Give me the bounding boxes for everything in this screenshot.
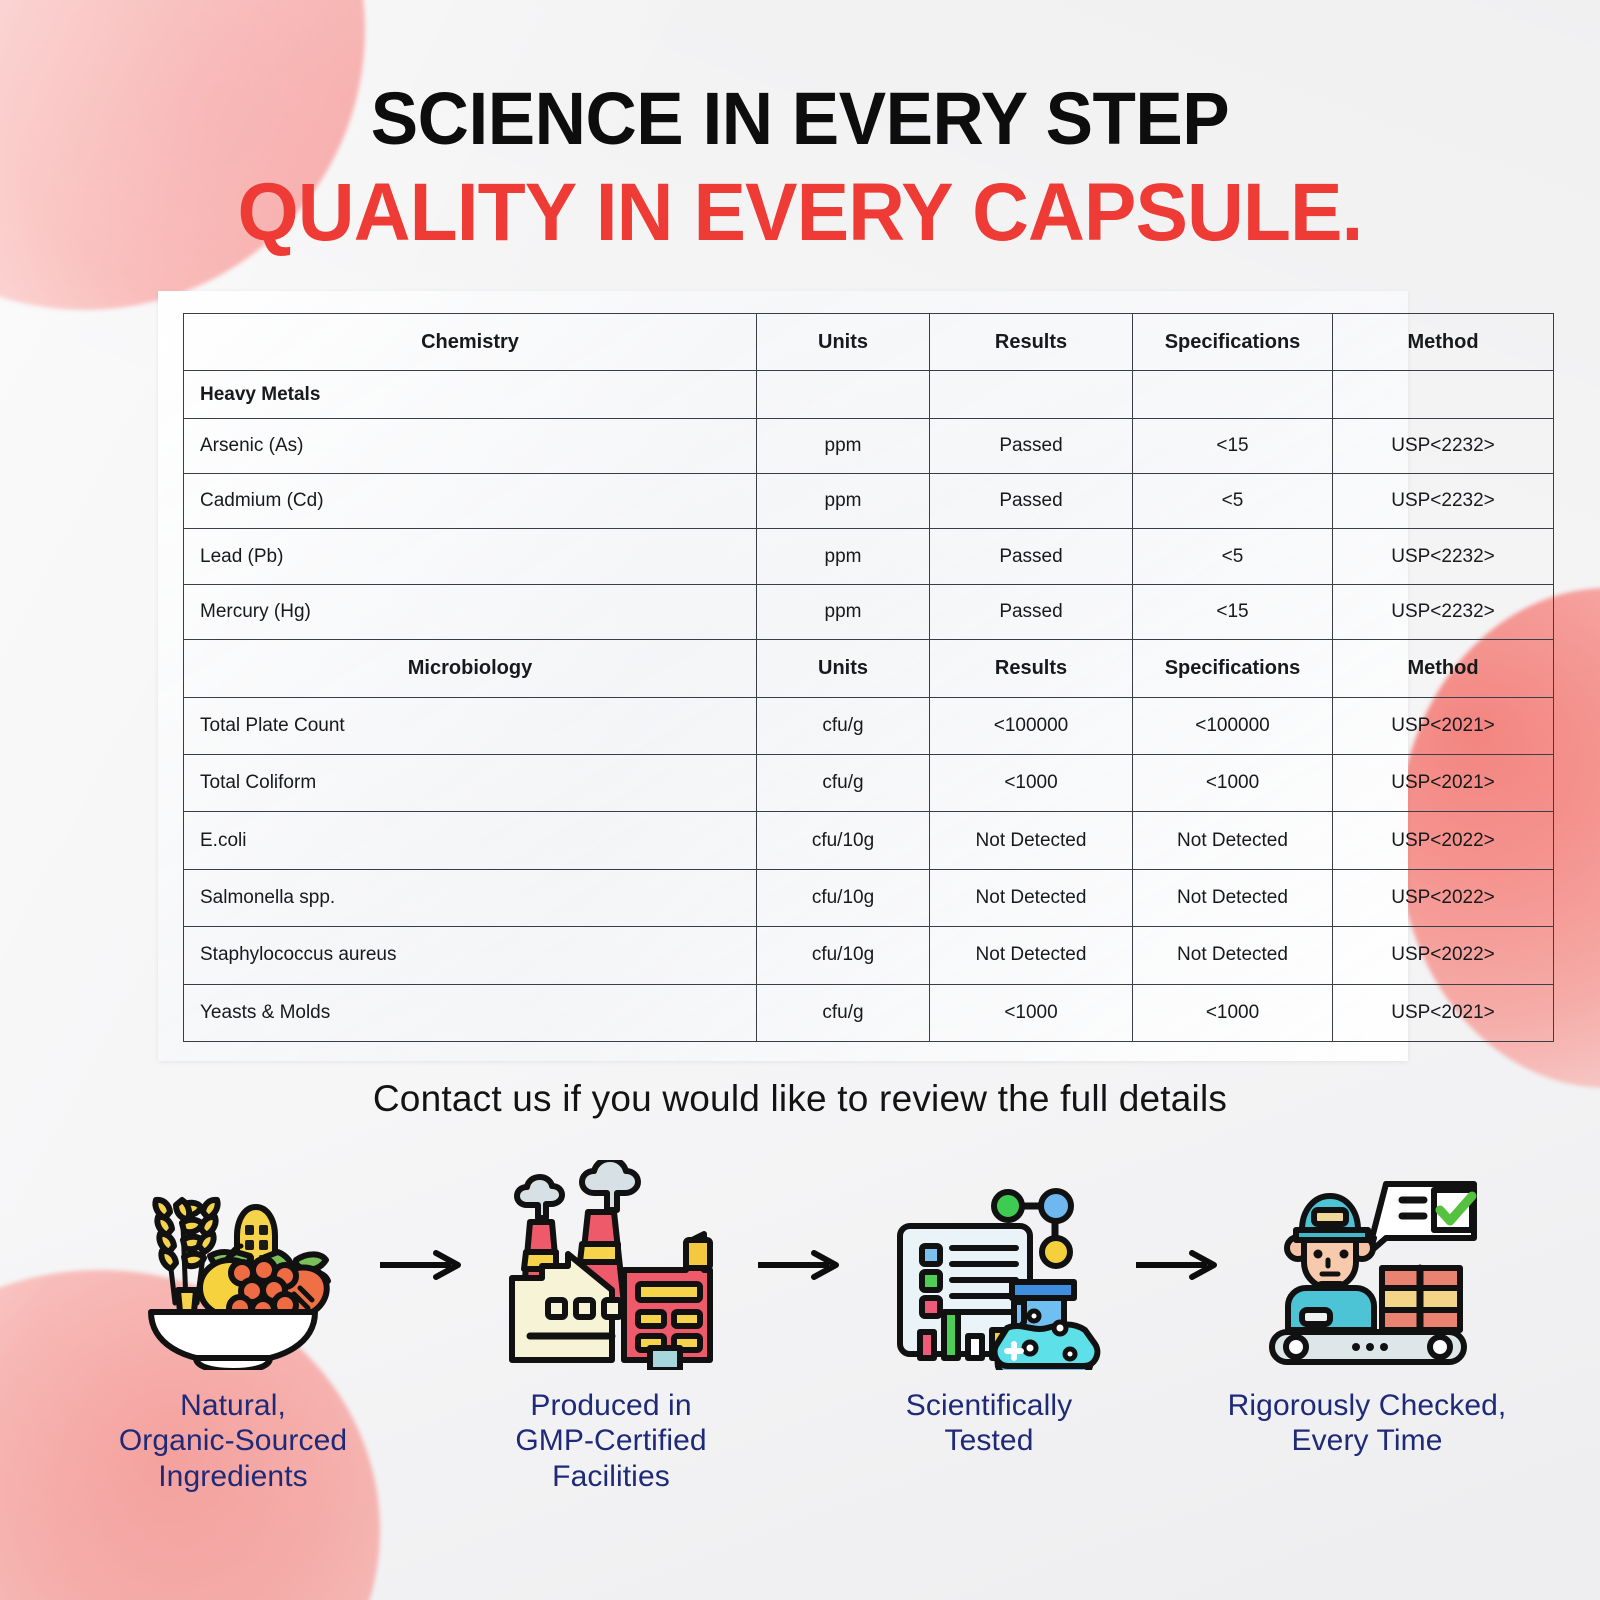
arrow-right-icon <box>758 1250 842 1280</box>
cell-units: ppm <box>757 584 930 639</box>
group-spacer-results <box>930 371 1133 418</box>
cell-analyte: E.coli <box>184 812 757 869</box>
headline-secondary: QUALITY IN EVERY CAPSULE. <box>32 172 1568 254</box>
table-header-microbiology: Microbiology Units Results Specification… <box>184 640 1554 697</box>
header-cell-results: Results <box>930 640 1133 697</box>
cell-specifications: Not Detected <box>1133 812 1333 869</box>
lab-results-body: Chemistry Units Results Specifications M… <box>184 314 1554 1042</box>
cell-specifications: Not Detected <box>1133 869 1333 926</box>
cell-analyte: Yeasts & Molds <box>184 984 757 1041</box>
cell-results: <1000 <box>930 984 1133 1041</box>
table-row: Mercury (Hg) ppm Passed <15 USP<2232> <box>184 584 1554 639</box>
header-cell-specifications: Specifications <box>1133 640 1333 697</box>
table-row: Total Plate Count cfu/g <100000 <100000 … <box>184 697 1554 754</box>
process-step-label: Natural,Organic-SourcedIngredients <box>119 1388 347 1494</box>
header-cell-specifications: Specifications <box>1133 314 1333 371</box>
process-step-label: ScientificallyTested <box>906 1388 1072 1459</box>
header-cell-units: Units <box>757 640 930 697</box>
cell-analyte: Staphylococcus aureus <box>184 927 757 984</box>
group-spacer-specifications <box>1133 371 1333 418</box>
cell-units: cfu/g <box>757 697 930 754</box>
cell-method: USP<2232> <box>1333 584 1554 639</box>
header-cell-microbiology: Microbiology <box>184 640 757 697</box>
arrow-3 <box>1132 1160 1224 1370</box>
cell-units: cfu/10g <box>757 869 930 926</box>
cell-results: Passed <box>930 584 1133 639</box>
table-row: Total Coliform cfu/g <1000 <1000 USP<202… <box>184 754 1554 811</box>
cell-analyte: Lead (Pb) <box>184 529 757 584</box>
cell-units: cfu/g <box>757 754 930 811</box>
cell-results: <1000 <box>930 754 1133 811</box>
cell-units: ppm <box>757 474 930 529</box>
group-spacer-method <box>1333 371 1554 418</box>
cell-units: cfu/10g <box>757 927 930 984</box>
cell-units: ppm <box>757 418 930 473</box>
process-step-natural-ingredients: Natural,Organic-SourcedIngredients <box>90 1160 376 1494</box>
cell-method: USP<2021> <box>1333 754 1554 811</box>
cell-analyte: Mercury (Hg) <box>184 584 757 639</box>
arrow-2 <box>754 1160 846 1370</box>
cell-specifications: <5 <box>1133 474 1333 529</box>
cell-results: Passed <box>930 418 1133 473</box>
contact-note: Contact us if you would like to review t… <box>0 1078 1600 1120</box>
cell-specifications: Not Detected <box>1133 927 1333 984</box>
quality-worker-icon <box>1252 1160 1482 1370</box>
cell-results: Not Detected <box>930 927 1133 984</box>
cell-analyte: Salmonella spp. <box>184 869 757 926</box>
cell-method: USP<2022> <box>1333 869 1554 926</box>
cell-method: USP<2232> <box>1333 529 1554 584</box>
table-header-chemistry: Chemistry Units Results Specifications M… <box>184 314 1554 371</box>
cell-units: ppm <box>757 529 930 584</box>
cell-specifications: <15 <box>1133 418 1333 473</box>
header-cell-chemistry: Chemistry <box>184 314 757 371</box>
header-cell-units: Units <box>757 314 930 371</box>
cell-units: cfu/10g <box>757 812 930 869</box>
cell-analyte: Total Coliform <box>184 754 757 811</box>
cell-units: cfu/g <box>757 984 930 1041</box>
cell-method: USP<2232> <box>1333 418 1554 473</box>
header-cell-method: Method <box>1333 640 1554 697</box>
cell-method: USP<2021> <box>1333 984 1554 1041</box>
cell-analyte: Arsenic (As) <box>184 418 757 473</box>
cell-analyte: Cadmium (Cd) <box>184 474 757 529</box>
arrow-right-icon <box>1136 1250 1220 1280</box>
cell-analyte: Total Plate Count <box>184 697 757 754</box>
cell-results: Passed <box>930 474 1133 529</box>
poster-page: SCIENCE IN EVERY STEP QUALITY IN EVERY C… <box>0 0 1600 1600</box>
table-row: Cadmium (Cd) ppm Passed <5 USP<2232> <box>184 474 1554 529</box>
table-row: Salmonella spp. cfu/10g Not Detected Not… <box>184 869 1554 926</box>
cell-specifications: <15 <box>1133 584 1333 639</box>
table-row: Arsenic (As) ppm Passed <15 USP<2232> <box>184 418 1554 473</box>
process-step-label: Produced inGMP-CertifiedFacilities <box>515 1388 706 1494</box>
header-cell-results: Results <box>930 314 1133 371</box>
process-step-label: Rigorously Checked,Every Time <box>1228 1388 1507 1459</box>
fruit-bowl-icon <box>118 1160 348 1370</box>
cell-results: Not Detected <box>930 869 1133 926</box>
cell-specifications: <5 <box>1133 529 1333 584</box>
process-step-scientific-testing: ScientificallyTested <box>846 1160 1132 1459</box>
process-step-quality-check: Rigorously Checked,Every Time <box>1224 1160 1510 1459</box>
cell-method: USP<2022> <box>1333 927 1554 984</box>
group-label-heavy-metals: Heavy Metals <box>184 371 757 418</box>
table-row: Lead (Pb) ppm Passed <5 USP<2232> <box>184 529 1554 584</box>
cell-results: Passed <box>930 529 1133 584</box>
table-row: Yeasts & Molds cfu/g <1000 <1000 USP<202… <box>184 984 1554 1041</box>
cell-method: USP<2232> <box>1333 474 1554 529</box>
cell-method: USP<2022> <box>1333 812 1554 869</box>
arrow-1 <box>376 1160 468 1370</box>
cell-specifications: <1000 <box>1133 754 1333 811</box>
headline-primary: SCIENCE IN EVERY STEP <box>32 82 1568 156</box>
cell-method: USP<2021> <box>1333 697 1554 754</box>
cell-results: Not Detected <box>930 812 1133 869</box>
cell-specifications: <1000 <box>1133 984 1333 1041</box>
process-step-gmp-facility: Produced inGMP-CertifiedFacilities <box>468 1160 754 1494</box>
table-group-heavy-metals: Heavy Metals <box>184 371 1554 418</box>
factory-icon <box>496 1160 726 1370</box>
lab-results-table: Chemistry Units Results Specifications M… <box>183 313 1554 1042</box>
table-row: E.coli cfu/10g Not Detected Not Detected… <box>184 812 1554 869</box>
arrow-right-icon <box>380 1250 464 1280</box>
coa-document-card: Chemistry Units Results Specifications M… <box>158 291 1408 1061</box>
cell-results: <100000 <box>930 697 1133 754</box>
cell-specifications: <100000 <box>1133 697 1333 754</box>
table-row: Staphylococcus aureus cfu/10g Not Detect… <box>184 927 1554 984</box>
header-cell-method: Method <box>1333 314 1554 371</box>
lab-analysis-icon <box>874 1160 1104 1370</box>
group-spacer-units <box>757 371 930 418</box>
process-strip: Natural,Organic-SourcedIngredients <box>90 1160 1510 1540</box>
